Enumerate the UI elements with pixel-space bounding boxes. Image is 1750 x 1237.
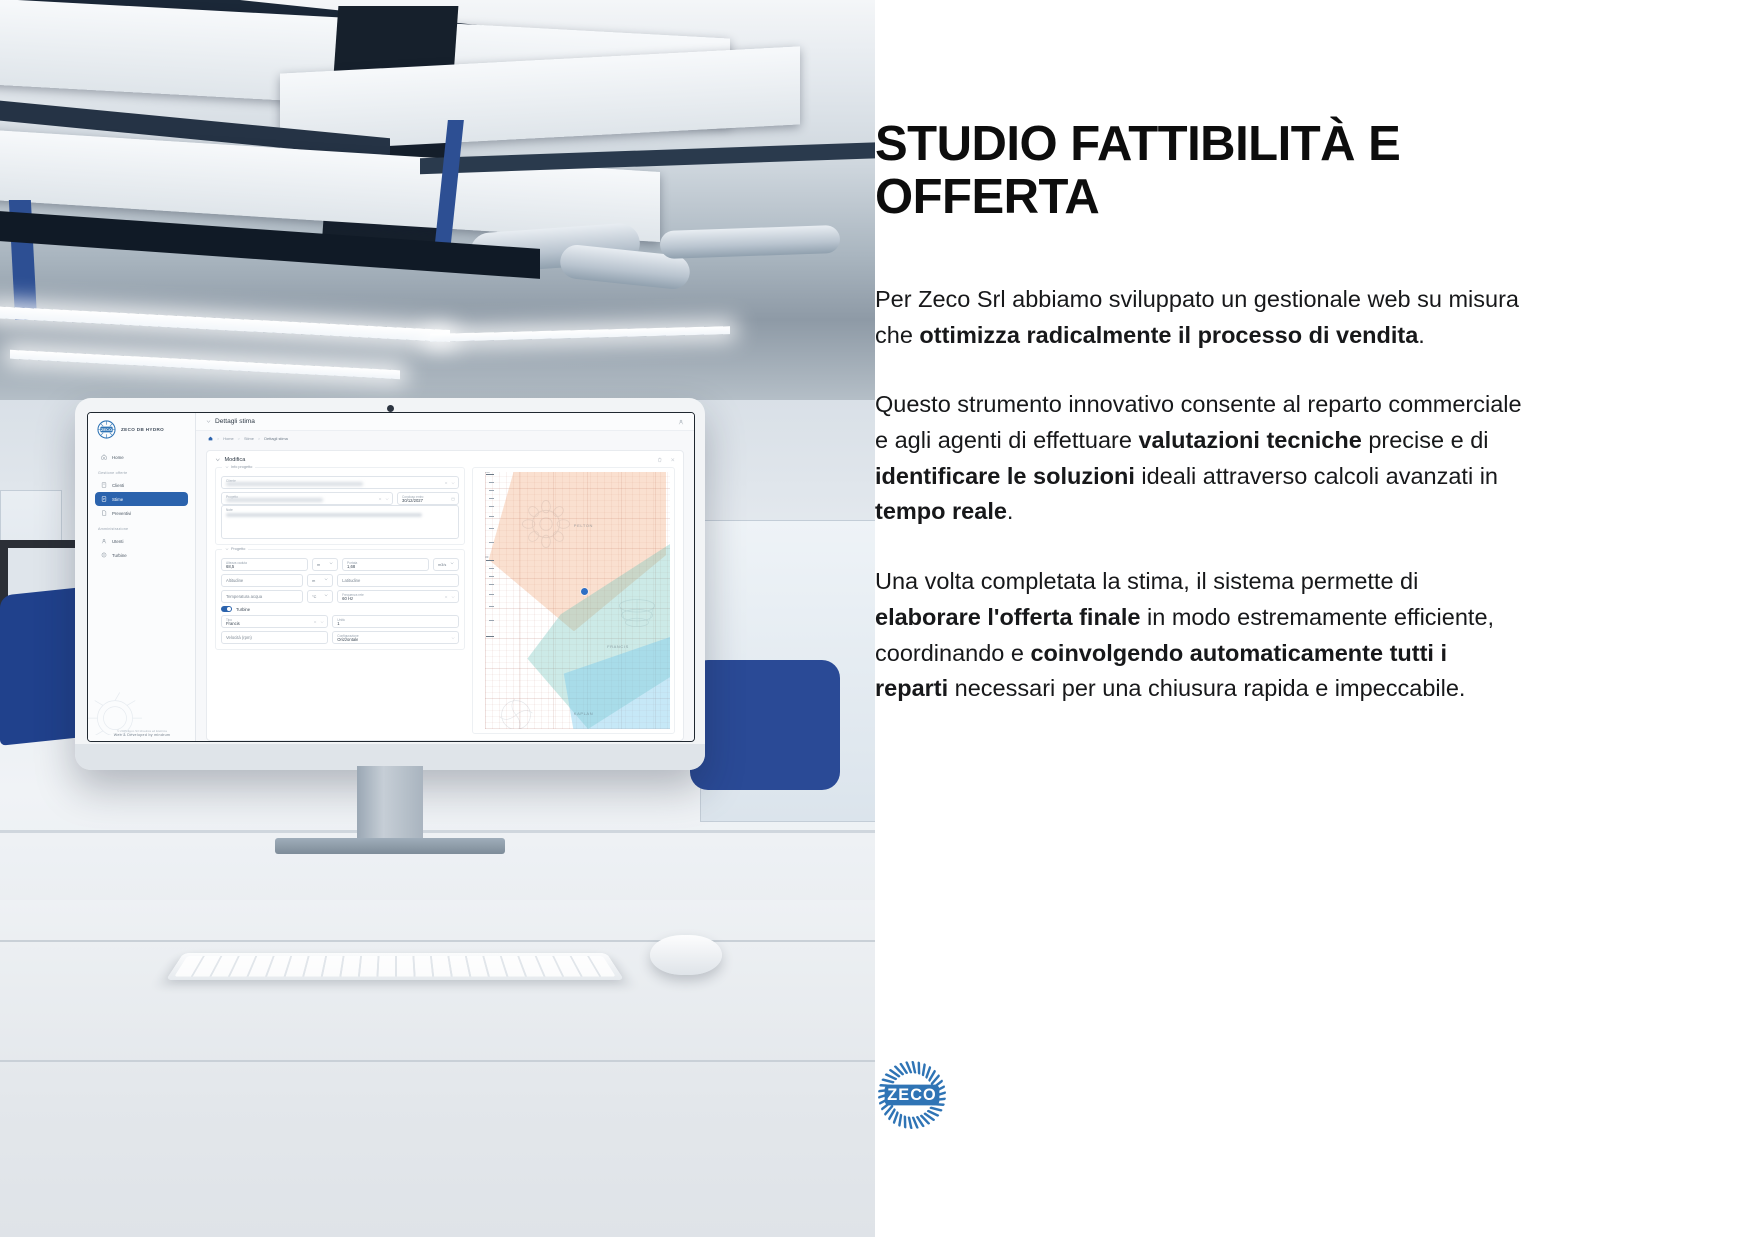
- field-placeholder: Latitudine: [342, 578, 360, 583]
- body-text: necessari per una chiusura rapida e impe…: [948, 675, 1465, 701]
- monitor-stand-foot: [275, 838, 505, 854]
- turbine-icon: [101, 552, 107, 558]
- chevron-down-icon: [225, 547, 229, 551]
- developer-credit: Web & Developed by mindrum: [88, 733, 196, 737]
- field-placeholder: Temperatura acqua: [226, 594, 262, 599]
- app-sidebar: ZECO ZECO DB HYDRO Home: [88, 413, 196, 741]
- imac-monitor: ZECO ZECO DB HYDRO Home: [75, 398, 705, 828]
- field-unita[interactable]: Unità 1: [332, 615, 459, 628]
- field-label: Altezza caduta: [226, 561, 247, 565]
- floor: [0, 900, 875, 1237]
- field-frequenza-rete[interactable]: Frequenza rete 60 Hz: [337, 590, 459, 603]
- form-row: Altezza caduta 68,5 m: [221, 558, 459, 571]
- breadcrumb-separator: >: [258, 436, 260, 441]
- field-portata[interactable]: Portata 1,68: [342, 558, 429, 571]
- zeco-db-hydro-app: ZECO ZECO DB HYDRO Home: [88, 413, 694, 741]
- unit-label: m: [317, 563, 320, 567]
- chart-plot-area: PELTON FRANCIS KAPLAN 1000: [485, 472, 670, 729]
- form-row: Velocità (rpm) Configurazione Orizzontal…: [221, 631, 459, 644]
- paragraph-1: Per Zeco Srl abbiamo sviluppato un gesti…: [875, 282, 1525, 353]
- ceiling-beam: [420, 142, 875, 174]
- field-value: xxxxxxxxxx: [226, 482, 363, 486]
- calendar-icon[interactable]: [451, 496, 455, 500]
- app-brand-name: ZECO DB HYDRO: [121, 427, 164, 432]
- ceiling-area: [0, 0, 875, 410]
- unit-select-portata[interactable]: m3/s: [433, 558, 459, 571]
- breadcrumb-item-stime[interactable]: Stime: [244, 436, 254, 441]
- body-text: precise e di: [1362, 427, 1489, 453]
- chevron-down-icon[interactable]: [215, 457, 221, 463]
- chevron-down-icon[interactable]: [450, 561, 454, 567]
- field-cliente[interactable]: Cliente xxxxxxxxxx: [221, 476, 459, 489]
- close-icon[interactable]: [670, 457, 676, 463]
- field-altitudine[interactable]: Altitudine: [221, 574, 303, 587]
- chevron-down-icon[interactable]: [320, 619, 324, 623]
- svg-text:ZECO: ZECO: [887, 1086, 937, 1104]
- field-label: Note: [226, 508, 233, 512]
- panel-heading: Modifica: [215, 457, 245, 463]
- emphasis-text: valutazioni tecniche: [1138, 427, 1361, 453]
- quotes-icon: [101, 510, 107, 516]
- trash-icon[interactable]: [657, 457, 663, 463]
- fieldset-progetto: Progetto Altezza caduta 68,5: [215, 549, 465, 650]
- y-tick: [489, 482, 494, 483]
- slide-content: STUDIO FATTIBILITÀ E OFFERTA Per Zeco Sr…: [875, 0, 1750, 1237]
- y-tick: [489, 620, 494, 621]
- content-inner: STUDIO FATTIBILITÀ E OFFERTA Per Zeco Sr…: [875, 118, 1655, 707]
- panel-header: Modifica: [207, 451, 683, 467]
- clear-icon[interactable]: [313, 619, 317, 623]
- chevron-down-icon: [225, 465, 229, 469]
- y-tick-major: [486, 474, 494, 475]
- form-row: Cliente xxxxxxxxxx: [221, 476, 459, 489]
- breadcrumb: > Home > Stime > Dettagli stima: [196, 431, 694, 446]
- y-tick: [489, 506, 494, 507]
- field-actions: [451, 496, 455, 500]
- monitor-stand-neck: [357, 766, 423, 840]
- estimates-icon: [101, 496, 107, 502]
- app-header: Dettagli stima: [196, 413, 694, 431]
- monitor-bezel: ZECO ZECO DB HYDRO Home: [75, 398, 705, 770]
- field-placeholder: Velocità (rpm): [226, 635, 252, 640]
- chevron-down-icon[interactable]: [324, 593, 328, 599]
- desk-edge: [0, 830, 875, 833]
- sidebar-item-preventivi[interactable]: Preventivi: [95, 506, 188, 520]
- edit-panel: Modifica: [206, 450, 684, 741]
- floor-line: [0, 940, 875, 942]
- office-chair: [690, 660, 840, 790]
- panel-body: Info progetto Cliente xxxxxxxxxx: [207, 467, 683, 740]
- field-latitudine[interactable]: Latitudine: [337, 574, 459, 587]
- sidebar-item-utenti[interactable]: Utenti: [95, 534, 188, 548]
- form-row: Temperatura acqua °C: [221, 590, 459, 603]
- breadcrumb-item-current: Dettagli stima: [264, 436, 288, 441]
- zeco-db-hydro-logo: ZECO: [97, 420, 116, 439]
- y-tick-label: 100: [485, 556, 488, 559]
- user-icon[interactable]: [678, 419, 684, 425]
- app-brand: ZECO ZECO DB HYDRO: [88, 420, 195, 450]
- form-row: Progetto xxxxxx: [221, 492, 459, 505]
- field-temperatura-acqua[interactable]: Temperatura acqua: [221, 590, 303, 603]
- unit-label: °C: [312, 595, 316, 599]
- field-label: Tipo: [226, 618, 232, 622]
- note-text-blurred: [226, 513, 422, 517]
- sidebar-item-label: Home: [112, 455, 124, 460]
- field-configurazione[interactable]: Configurazione Orizzontale: [332, 631, 459, 644]
- field-actions: [444, 594, 455, 598]
- clear-icon[interactable]: [444, 594, 448, 598]
- clients-icon: [101, 482, 107, 488]
- ceiling-light: [10, 350, 400, 379]
- floor-line: [0, 1060, 875, 1062]
- y-tick: [489, 568, 494, 569]
- page-title: Dettagli stima: [206, 418, 255, 425]
- breadcrumb-separator: >: [238, 436, 240, 441]
- fieldset-legend: Progetto: [222, 547, 248, 551]
- sidebar-item-clienti[interactable]: Clienti: [95, 478, 188, 492]
- field-concluso-entro[interactable]: Concluso entro 30/12/2027: [397, 492, 459, 505]
- operating-point[interactable]: [581, 588, 588, 595]
- sidebar-item-turbine[interactable]: Turbine: [95, 548, 188, 562]
- page-title-text: Dettagli stima: [215, 418, 255, 425]
- chevron-down-icon[interactable]: [329, 561, 333, 567]
- chart-label-pelton: PELTON: [574, 523, 593, 528]
- field-label: Concluso entro: [402, 495, 423, 499]
- chevron-down-icon[interactable]: [451, 635, 455, 639]
- clear-icon[interactable]: [444, 480, 448, 484]
- clear-icon[interactable]: [378, 496, 382, 500]
- chevron-down-icon[interactable]: [451, 480, 455, 484]
- emphasis-text: tempo reale: [875, 498, 1007, 524]
- turbine-toggle-label: Turbine: [236, 607, 250, 612]
- users-icon: [101, 538, 107, 544]
- sidebar-footer: © 2025 Zeco Srl Idraulica ed Elettrica W…: [88, 729, 196, 737]
- field-label: Unità: [337, 618, 344, 622]
- field-actions: [313, 619, 324, 623]
- field-tipo[interactable]: Tipo Francis: [221, 615, 328, 628]
- field-note[interactable]: Note: [221, 505, 459, 539]
- body-text: Una volta completata la stima, il sistem…: [875, 568, 1418, 594]
- webcam-icon: [387, 405, 394, 412]
- fieldset-legend-text: Progetto: [231, 547, 245, 551]
- sidebar-item-stime[interactable]: Stime: [95, 492, 188, 506]
- chevron-down-icon[interactable]: [385, 496, 389, 500]
- body-copy: Per Zeco Srl abbiamo sviluppato un gesti…: [875, 282, 1525, 707]
- turbine-toggle-row[interactable]: Turbine: [221, 606, 459, 612]
- sidebar-item-label: Stime: [112, 497, 123, 502]
- unit-select-temperatura[interactable]: °C: [307, 590, 333, 603]
- chevron-down-icon[interactable]: [324, 577, 328, 583]
- fieldset-legend: Info progetto: [222, 465, 255, 469]
- sidebar-item-home[interactable]: Home: [95, 450, 188, 464]
- y-tick-major: [486, 636, 494, 637]
- form-row: Tipo Francis: [221, 615, 459, 628]
- ceiling-duct: [660, 225, 841, 259]
- sidebar-item-label: Utenti: [112, 539, 123, 544]
- y-tick: [489, 490, 494, 491]
- home-icon[interactable]: [208, 436, 213, 441]
- field-altezza-caduta[interactable]: Altezza caduta 68,5: [221, 558, 308, 571]
- turbine-selection-chart[interactable]: PELTON FRANCIS KAPLAN 1000: [472, 467, 675, 734]
- sidebar-item-label: Preventivi: [112, 511, 131, 516]
- keyboard-keys: [174, 956, 616, 977]
- sidebar-section-label: Amministrazione: [88, 520, 195, 534]
- app-main: Dettagli stima >: [196, 413, 694, 741]
- monitor-screen: ZECO ZECO DB HYDRO Home: [87, 412, 695, 742]
- chevron-down-icon[interactable]: [451, 594, 455, 598]
- turbine-watermark-icon: [87, 681, 150, 735]
- chevron-collapse-icon[interactable]: [206, 419, 211, 424]
- y-tick-major: [486, 560, 494, 561]
- page-title: STUDIO FATTIBILITÀ E OFFERTA: [875, 118, 1515, 224]
- y-tick: [489, 498, 494, 499]
- panel-heading-text: Modifica: [225, 457, 246, 463]
- panel-actions: [657, 457, 675, 463]
- chart-label-kaplan: KAPLAN: [574, 711, 593, 716]
- office-photo: ZECO ZECO DB HYDRO Home: [0, 0, 875, 1237]
- ceiling-light: [0, 306, 450, 342]
- slide-root: ZECO ZECO DB HYDRO Home: [0, 0, 1750, 1237]
- estimate-form: Info progetto Cliente xxxxxxxxxx: [215, 467, 465, 734]
- emphasis-text: elaborare l'offerta finale: [875, 604, 1140, 630]
- y-tick: [489, 542, 494, 543]
- body-text: .: [1007, 498, 1014, 524]
- unit-label: m: [312, 579, 315, 583]
- y-tick: [489, 594, 494, 595]
- form-row: Altitudine m Latitudi: [221, 574, 459, 587]
- field-placeholder: Altitudine: [226, 578, 243, 583]
- svg-text:ZECO: ZECO: [101, 427, 112, 432]
- chart-y-axis: 1000: [485, 472, 496, 729]
- sidebar-section-label: Gestione offerte: [88, 464, 195, 478]
- field-actions: [444, 480, 455, 484]
- kaplan-runner-art: [492, 691, 540, 729]
- unit-select-altitudine[interactable]: m: [307, 574, 333, 587]
- field-label: Frequenza rete: [342, 593, 364, 597]
- fieldset-info-progetto: Info progetto Cliente xxxxxxxxxx: [215, 467, 465, 545]
- keyboard: [166, 953, 624, 980]
- turbine-toggle[interactable]: [221, 606, 232, 612]
- field-progetto[interactable]: Progetto xxxxxx: [221, 492, 393, 505]
- y-tick: [489, 528, 494, 529]
- unit-select-altezza[interactable]: m: [312, 558, 338, 571]
- unit-label: m3/s: [438, 563, 446, 567]
- paragraph-2: Questo strumento innovativo consente al …: [875, 387, 1525, 530]
- breadcrumb-item-home[interactable]: Home: [223, 436, 233, 441]
- chart-label-francis: FRANCIS: [607, 644, 629, 649]
- y-tick: [489, 576, 494, 577]
- emphasis-text: identificare le soluzioni: [875, 463, 1135, 489]
- body-text: ideali attraverso calcoli avanzati in: [1135, 463, 1498, 489]
- y-tick: [489, 584, 494, 585]
- sidebar-item-label: Turbine: [112, 553, 127, 558]
- field-actions: [378, 496, 389, 500]
- field-velocita-rpm[interactable]: Velocità (rpm): [221, 631, 328, 644]
- fieldset-legend-text: Info progetto: [231, 465, 252, 469]
- emphasis-text: ottimizza radicalmente il processo di ve…: [919, 322, 1418, 348]
- y-tick: [489, 516, 494, 517]
- mouse: [650, 935, 722, 975]
- zeco-logo: ZECO: [875, 1058, 949, 1132]
- paragraph-3: Una volta completata la stima, il sistem…: [875, 564, 1525, 707]
- y-tick: [489, 606, 494, 607]
- breadcrumb-separator: >: [217, 436, 219, 441]
- field-label: Portata: [347, 561, 357, 565]
- sidebar-item-label: Clienti: [112, 483, 124, 488]
- field-value: xxxxxx: [226, 498, 323, 502]
- field-label: Configurazione: [337, 634, 358, 638]
- home-icon: [101, 454, 107, 460]
- field-actions: [451, 635, 455, 639]
- body-text: .: [1418, 322, 1425, 348]
- ceiling-light: [430, 326, 730, 342]
